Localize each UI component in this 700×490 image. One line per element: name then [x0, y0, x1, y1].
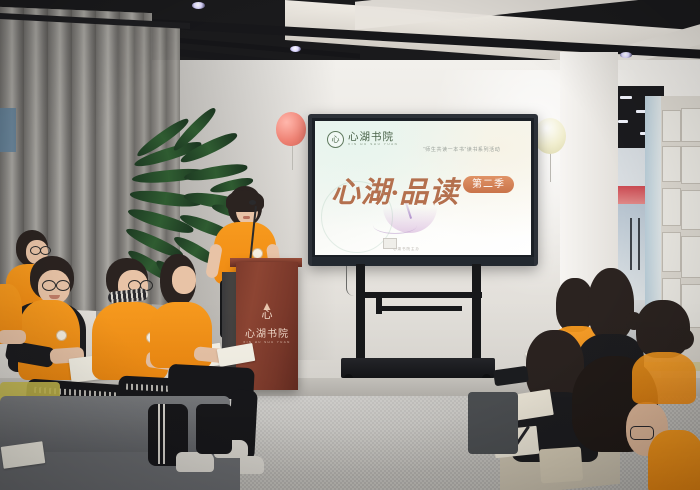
display-screen[interactable]: 心 心湖书院 XIN HU SHU YUAN “师生共读一本书”读书系列活动 心… — [315, 121, 531, 255]
ceiling-spotlight — [620, 52, 632, 58]
track-pants-leg — [196, 404, 232, 454]
microphone-head-icon — [249, 200, 256, 205]
shelf-cell — [681, 236, 700, 278]
cart-post — [356, 264, 365, 360]
tshirt — [632, 352, 696, 404]
wall-outlet[interactable] — [383, 238, 397, 249]
season-badge-wrap: 第二季 — [463, 174, 514, 192]
shelf-cell — [681, 146, 700, 184]
balloon-cream — [534, 118, 566, 154]
shelf-cell — [681, 190, 700, 230]
notebook — [539, 447, 583, 484]
slide-logo: 心 心湖书院 XIN HU SHU YUAN — [327, 131, 398, 148]
hair — [588, 268, 634, 340]
hair-bun — [672, 328, 694, 350]
seal-glyph: 心 — [332, 136, 340, 144]
sneaker — [176, 452, 214, 472]
balloon-pink — [276, 112, 306, 146]
season-badge: 第二季 — [463, 176, 514, 193]
shelf-cell — [662, 188, 681, 226]
podium-institution-name: 心湖书院 — [236, 325, 298, 340]
photo-scene: 心 心湖书院 XIN HU SHU YUAN “师生共读一本书”读书系列活动 心… — [0, 0, 700, 490]
corridor-light — [618, 120, 628, 123]
shelf-cell — [662, 146, 681, 182]
cart-crossbar — [356, 292, 482, 298]
eyeglasses-icon — [630, 426, 654, 440]
cart-arm — [376, 292, 382, 314]
chair-back — [468, 392, 518, 454]
shelf-cell — [681, 108, 700, 142]
slide-tagline-wrap: “师生共读一本书”读书系列活动 — [423, 138, 500, 156]
face — [172, 266, 196, 294]
arm — [0, 330, 26, 344]
shelf-cell — [662, 232, 681, 272]
pants-stripe — [158, 404, 166, 464]
shelf-cell — [662, 110, 681, 142]
balloon-string — [292, 144, 293, 170]
speaker-fringe — [226, 190, 264, 212]
speaker-mouth — [243, 216, 250, 219]
eyeglasses-icon — [42, 280, 56, 291]
tshirt — [648, 430, 700, 490]
display-cable — [346, 266, 357, 296]
podium-logo: ▲ 心 心湖书院 XIN HU SHU YUAN — [236, 300, 298, 344]
door-handle — [630, 218, 632, 270]
door-handle — [638, 218, 640, 270]
window-pane — [0, 108, 16, 152]
badge — [56, 330, 67, 341]
slide-tagline: “师生共读一本书”读书系列活动 — [423, 147, 500, 153]
balloon-string — [550, 152, 551, 182]
cart-post — [472, 264, 481, 360]
corridor-light — [620, 96, 632, 99]
institution-seal-icon: 心 — [327, 131, 344, 148]
presentation-display[interactable]: 心 心湖书院 XIN HU SHU YUAN “师生共读一本书”读书系列活动 心… — [308, 114, 538, 266]
ceiling-spotlight — [192, 2, 205, 9]
display-brand-bar — [312, 257, 534, 266]
eyeglasses-icon — [40, 246, 51, 255]
eyeglasses-icon — [56, 280, 70, 291]
ceiling-spotlight — [290, 46, 301, 52]
cart-base — [341, 358, 495, 378]
cart-crossbar — [376, 306, 462, 311]
institution-name-pinyin: XIN HU SHU YUAN — [348, 143, 398, 146]
podium-seal-glyph: 心 — [236, 310, 298, 321]
